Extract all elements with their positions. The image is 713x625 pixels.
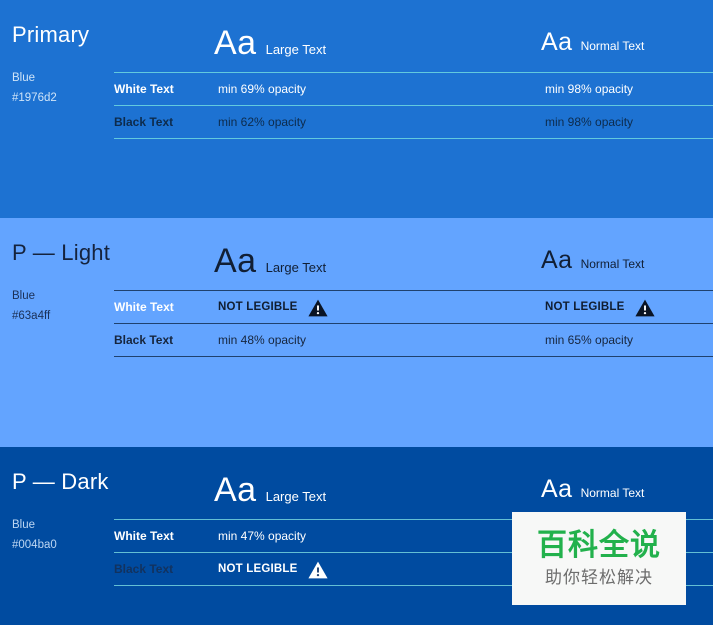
- panel-light-large-text-sample: Aa Large Text: [214, 244, 326, 278]
- panel-primary-legibility-table: White Text min 69% opacity min 98% opaci…: [114, 72, 713, 139]
- panel-primary-light: P — Light Blue #63a4ff Aa Large Text Aa …: [0, 218, 713, 447]
- not-legible-text: NOT LEGIBLE: [218, 301, 298, 313]
- warning-triangle-icon: [308, 299, 328, 317]
- panel-light-header: P — Light Blue #63a4ff Aa Large Text Aa …: [0, 218, 713, 290]
- panel-light-color-hex: #63a4ff: [12, 306, 50, 326]
- panel-light-color-name: Blue: [12, 286, 50, 306]
- row-label-white-text: White Text: [114, 300, 174, 314]
- row-label-white-text: White Text: [114, 529, 174, 543]
- row-label-black-text: Black Text: [114, 115, 173, 129]
- panel-primary-large-text-sample: Aa Large Text: [214, 26, 326, 60]
- cell-white-normal: min 98% opacity: [545, 82, 633, 96]
- table-row: Black Text min 48% opacity min 65% opaci…: [114, 324, 713, 356]
- table-row: White Text min 69% opacity min 98% opaci…: [114, 73, 713, 105]
- large-text-aa-glyph: Aa: [214, 26, 257, 60]
- normal-text-label: Normal Text: [581, 40, 645, 52]
- panel-light-legibility-table: White Text NOT LEGIBLE NOT LEGIBLE: [114, 290, 713, 357]
- panel-dark-swatch-meta: Blue #004ba0: [12, 515, 57, 555]
- table-row: Black Text min 62% opacity min 98% opaci…: [114, 106, 713, 138]
- panel-light-title: P — Light: [12, 242, 110, 264]
- row-label-black-text: Black Text: [114, 562, 173, 576]
- color-accessibility-board: Primary Blue #1976d2 Aa Large Text Aa No…: [0, 0, 713, 625]
- row-label-white-text: White Text: [114, 82, 174, 96]
- cell-black-normal: min 98% opacity: [545, 115, 633, 129]
- panel-light-swatch-meta: Blue #63a4ff: [12, 286, 50, 326]
- panel-light-normal-text-sample: Aa Normal Text: [541, 248, 644, 273]
- panel-primary: Primary Blue #1976d2 Aa Large Text Aa No…: [0, 0, 713, 218]
- panel-dark-large-text-sample: Aa Large Text: [214, 473, 326, 507]
- warning-triangle-icon: [635, 299, 655, 317]
- panel-primary-color-name: Blue: [12, 68, 57, 88]
- table-row: White Text NOT LEGIBLE NOT LEGIBLE: [114, 291, 713, 323]
- row-label-black-text: Black Text: [114, 333, 173, 347]
- panel-dark-color-hex: #004ba0: [12, 535, 57, 555]
- warning-triangle-icon: [308, 561, 328, 579]
- large-text-label: Large Text: [266, 43, 326, 56]
- not-legible-text: NOT LEGIBLE: [218, 563, 298, 575]
- large-text-aa-glyph: Aa: [214, 473, 257, 507]
- cell-white-normal: NOT LEGIBLE: [545, 298, 655, 316]
- cell-white-large: NOT LEGIBLE: [218, 298, 328, 316]
- panel-dark-header: P — Dark Blue #004ba0 Aa Large Text Aa N…: [0, 447, 713, 519]
- panel-dark-title: P — Dark: [12, 471, 109, 493]
- table-rule: [114, 138, 713, 139]
- panel-primary-title: Primary: [12, 24, 89, 46]
- panel-primary-swatch-meta: Blue #1976d2: [12, 68, 57, 108]
- large-text-label: Large Text: [266, 490, 326, 503]
- watermark-subtitle: 助你轻松解决: [545, 570, 653, 587]
- normal-text-aa-glyph: Aa: [541, 30, 573, 55]
- normal-text-aa-glyph: Aa: [541, 477, 573, 502]
- normal-text-label: Normal Text: [581, 258, 645, 270]
- panel-primary-header: Primary Blue #1976d2 Aa Large Text Aa No…: [0, 0, 713, 72]
- cell-white-large: min 47% opacity: [218, 529, 306, 543]
- panel-primary-normal-text-sample: Aa Normal Text: [541, 30, 644, 55]
- watermark-title: 百科全说: [537, 531, 661, 561]
- panel-dark-color-name: Blue: [12, 515, 57, 535]
- cell-white-large: min 69% opacity: [218, 82, 306, 96]
- cell-black-normal: min 65% opacity: [545, 333, 633, 347]
- panel-dark-normal-text-sample: Aa Normal Text: [541, 477, 644, 502]
- watermark-overlay: 百科全说 助你轻松解决: [512, 512, 686, 605]
- large-text-label: Large Text: [266, 261, 326, 274]
- normal-text-label: Normal Text: [581, 487, 645, 499]
- normal-text-aa-glyph: Aa: [541, 248, 573, 273]
- table-rule: [114, 356, 713, 357]
- cell-black-large: NOT LEGIBLE: [218, 560, 328, 578]
- large-text-aa-glyph: Aa: [214, 244, 257, 278]
- not-legible-text: NOT LEGIBLE: [545, 301, 625, 313]
- cell-black-large: min 62% opacity: [218, 115, 306, 129]
- cell-black-large: min 48% opacity: [218, 333, 306, 347]
- panel-primary-color-hex: #1976d2: [12, 88, 57, 108]
